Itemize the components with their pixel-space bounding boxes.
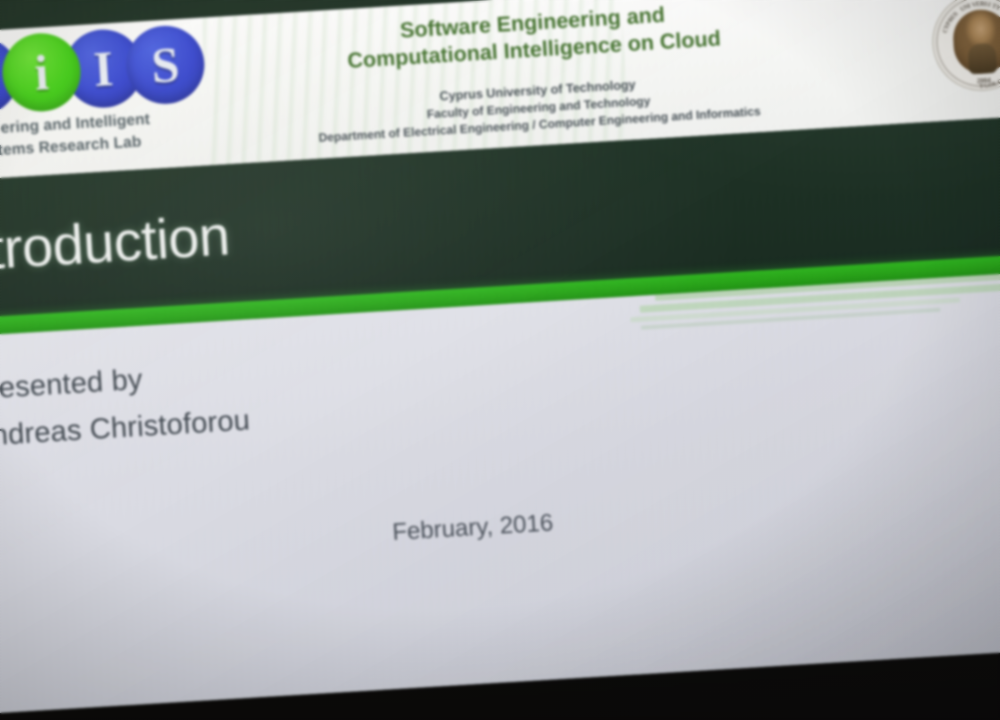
logo-letter-s2: S: [124, 24, 207, 107]
seis-logo-tagline: Software Engineering and Intelligent Inf…: [0, 103, 249, 169]
presentation-slide: S E i I S Software Engineering and Intel…: [0, 0, 1000, 715]
monitor-screen[interactable]: S E i I S Software Engineering and Intel…: [0, 0, 1000, 715]
university-seal-icon: CYPRUSUNIVERSITYOFTECHNOLOGY 2004: [930, 0, 1000, 94]
photo-scene: S E i I S Software Engineering and Intel…: [0, 0, 1000, 720]
project-title: Software Engineering and Computational I…: [252, 0, 814, 81]
page-title: Introduction: [0, 202, 231, 284]
logo-letter-i: i: [0, 31, 83, 114]
